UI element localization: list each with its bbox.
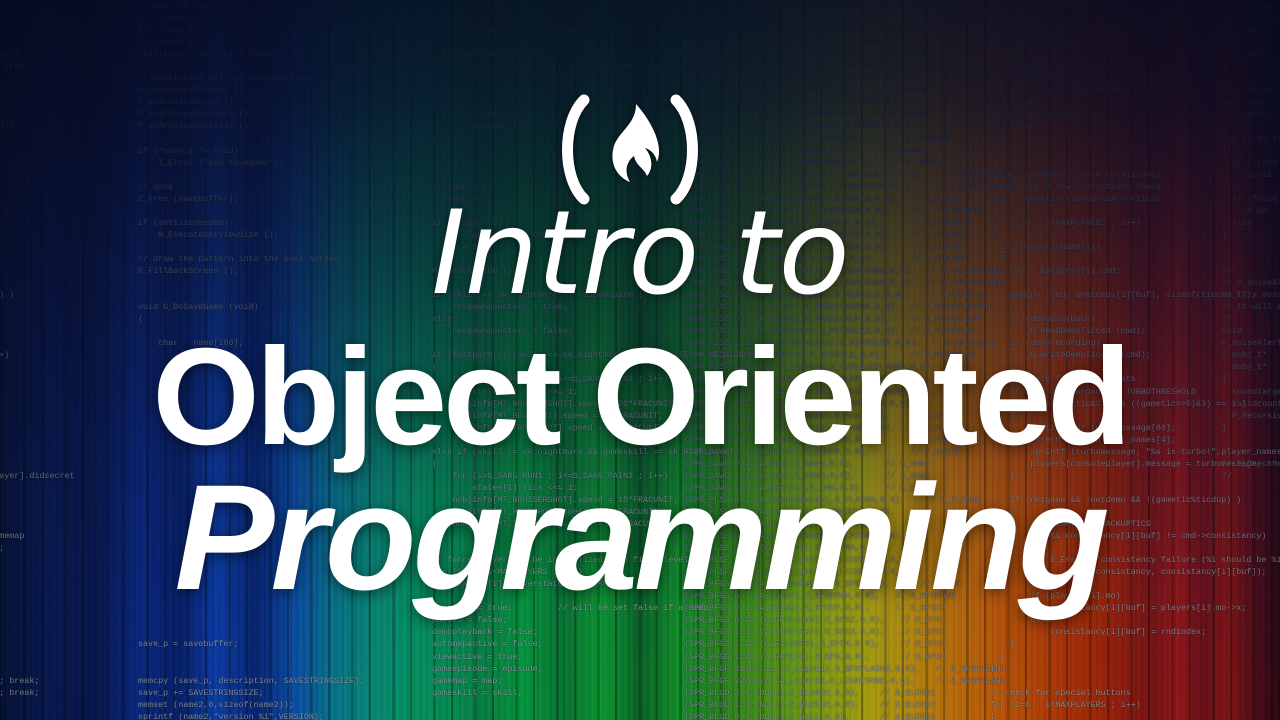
- video-thumbnail: victory; LAYERS ; i++) dsecret = true; o…: [0, 0, 1280, 720]
- freecodecamp-flame-logo: [540, 92, 720, 207]
